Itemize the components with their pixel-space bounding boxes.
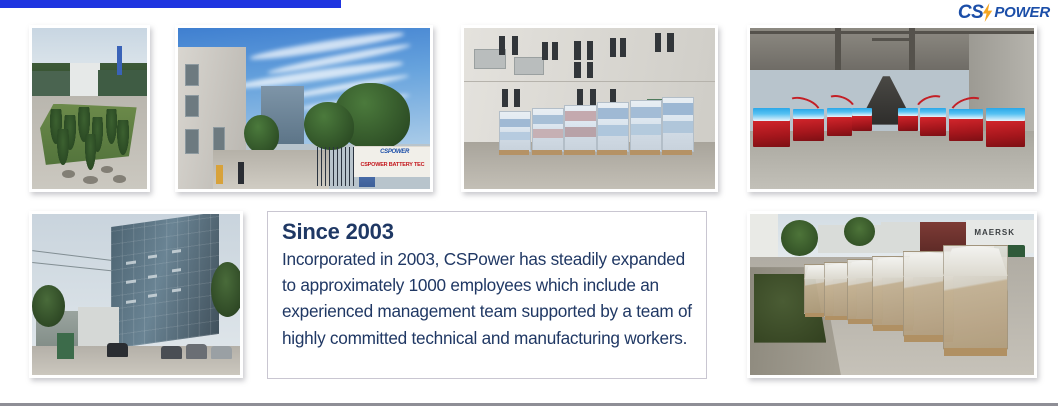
window <box>502 89 508 107</box>
pallet-stack <box>532 108 564 152</box>
carton-band <box>500 132 530 140</box>
carton-band <box>631 107 661 118</box>
person-figure <box>238 162 243 185</box>
photo-factory-entrance: CSPOWER CSPOWER BATTERY TEC <box>175 25 433 192</box>
ground-shadow <box>62 170 75 178</box>
window <box>552 42 558 60</box>
photo-campus-canvas <box>32 28 147 189</box>
top-accent-bar <box>0 0 341 8</box>
photo-gate-canvas: CSPOWER CSPOWER BATTERY TEC <box>178 28 430 189</box>
wall-sign-company-text: CSPOWER BATTERY TEC <box>360 162 424 168</box>
palm-tree <box>781 220 818 255</box>
battery-unit <box>920 117 946 136</box>
window <box>542 42 548 60</box>
roof-beam <box>909 28 915 70</box>
wall-sign-logo-text: CSPOWER <box>380 149 409 155</box>
wooden-pallet <box>564 150 594 155</box>
window <box>610 38 616 57</box>
low-rise-building <box>78 307 120 346</box>
roof-beam <box>835 28 841 70</box>
carton-band <box>533 115 563 124</box>
tree-grove <box>304 102 354 150</box>
car <box>107 343 128 357</box>
roof-beam <box>872 38 912 41</box>
photo-office-building <box>29 211 243 378</box>
carton-band <box>565 127 595 137</box>
carton-band <box>598 108 628 119</box>
lightning-bolt-icon <box>981 3 994 22</box>
wrapped-pallet <box>943 245 1007 350</box>
tree <box>85 134 97 169</box>
tree <box>117 120 129 155</box>
since-heading: Since 2003 <box>282 220 694 244</box>
ground-shadow <box>113 175 127 183</box>
brand-logo-cs-text: CS <box>958 3 983 22</box>
carton-band <box>663 103 693 115</box>
building-far <box>881 222 926 253</box>
window <box>499 36 505 55</box>
maersk-signage-text: MAERSK <box>974 228 1015 237</box>
battery-cap <box>753 108 790 121</box>
window <box>655 33 661 52</box>
wooden-pallet <box>630 150 660 155</box>
battery-cap <box>986 108 1026 121</box>
wooden-pallet <box>662 150 692 155</box>
battery-unit <box>852 115 872 131</box>
window <box>587 62 593 78</box>
pallet-stack <box>564 105 596 152</box>
green-gate <box>57 333 74 359</box>
window <box>185 95 199 117</box>
tree <box>32 285 65 327</box>
ground-shadow <box>101 166 113 172</box>
tree <box>211 262 240 317</box>
window <box>574 62 580 78</box>
brand-logo: CS POWER <box>958 2 1050 22</box>
window <box>512 36 518 55</box>
shrink-wrap-hood <box>943 246 1008 277</box>
brand-logo-power-text: POWER <box>994 5 1050 20</box>
carton-band <box>598 125 628 136</box>
window <box>514 89 520 107</box>
bollard <box>216 165 224 184</box>
car <box>161 346 182 359</box>
window <box>620 38 626 57</box>
window <box>587 41 593 60</box>
photo-factory-campus <box>29 25 150 192</box>
pallet-stack <box>597 102 629 152</box>
ground-shadow <box>83 176 98 184</box>
carton-band <box>663 121 693 133</box>
entrance-road <box>213 150 329 189</box>
building-white-center <box>70 63 100 95</box>
tree-grove <box>244 115 279 154</box>
battery-unit <box>753 120 790 147</box>
car <box>186 344 207 358</box>
wooden-skid <box>944 348 1006 356</box>
battery-unit <box>986 120 1026 147</box>
carton-band <box>565 111 595 121</box>
tree <box>57 129 69 164</box>
pallet-stack <box>662 97 694 152</box>
wooden-pallet <box>499 150 529 155</box>
wall-sign-panel: CSPOWER CSPOWER BATTERY TEC <box>354 146 430 178</box>
battery-unit <box>898 115 918 131</box>
photo-yard-canvas <box>464 28 715 189</box>
palm-tree <box>844 217 875 246</box>
window <box>185 64 199 86</box>
carton-band <box>500 119 530 127</box>
photo-warehouse-yard <box>461 25 718 192</box>
window <box>574 41 580 60</box>
photo-batteries-canvas <box>750 28 1034 189</box>
pallet-stack <box>499 111 531 152</box>
company-description-paragraph: Incorporated in 2003, CSPower has steadi… <box>282 246 694 351</box>
photo-pallets-canvas: MAERSK <box>750 214 1034 375</box>
battery-unit <box>827 117 853 136</box>
carton-band <box>631 124 661 135</box>
photo-shipping-pallets: MAERSK <box>747 211 1037 378</box>
photo-battery-formation-line <box>747 25 1037 192</box>
company-description-card: Since 2003 Incorporated in 2003, CSPower… <box>267 211 707 379</box>
glass-curtain-wall-tower <box>111 214 219 349</box>
ac-unit <box>514 57 544 75</box>
tree <box>106 109 118 144</box>
wall-seam <box>464 81 715 82</box>
pallet-stack <box>630 100 662 152</box>
wooden-pallet <box>532 150 562 155</box>
blue-chimney <box>117 46 122 75</box>
window <box>667 33 673 52</box>
carton-band <box>533 129 563 138</box>
gate-fence <box>317 147 357 186</box>
car <box>211 346 232 359</box>
photo-office-canvas <box>32 214 240 375</box>
wooden-pallet <box>597 150 627 155</box>
window <box>185 129 199 154</box>
